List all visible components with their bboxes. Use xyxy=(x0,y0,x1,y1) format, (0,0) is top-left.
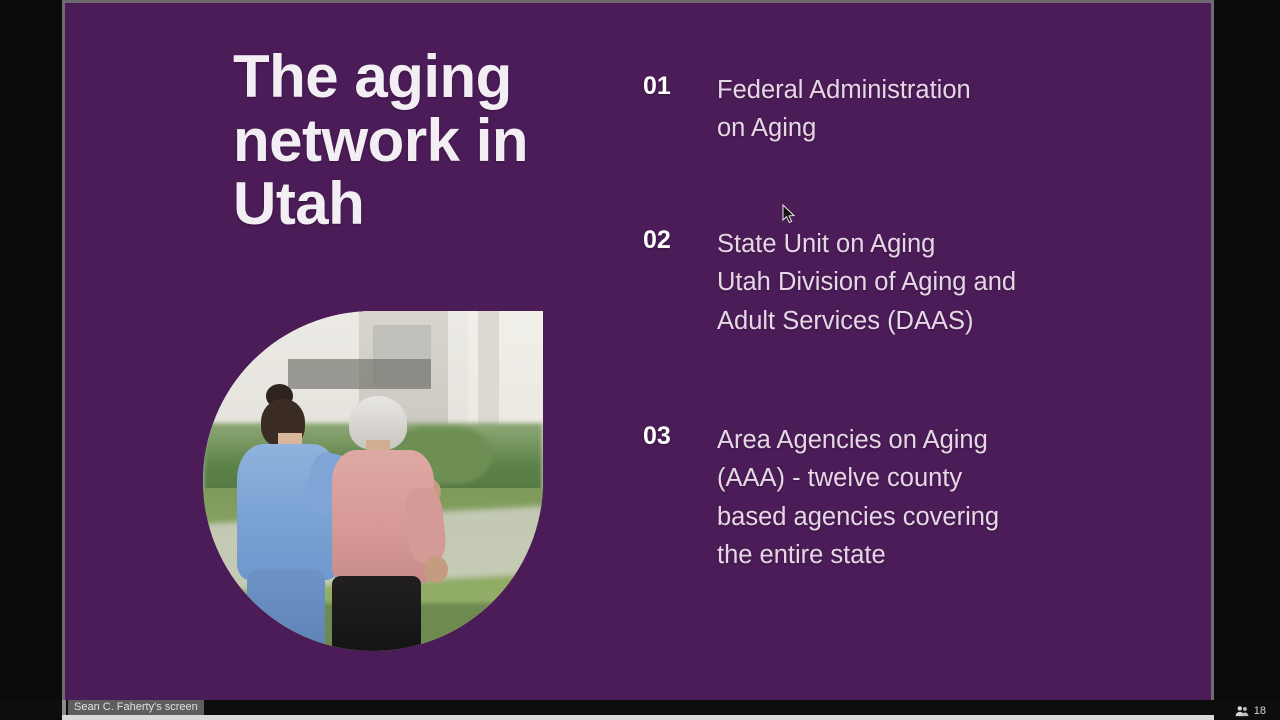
participant-count: 18 xyxy=(1254,705,1266,717)
list-item: 01 Federal Administration on Aging xyxy=(643,71,971,148)
share-strip-edge xyxy=(62,700,66,715)
list-item-number: 03 xyxy=(643,421,717,574)
shared-screen-view: The aging network in Utah xyxy=(0,0,1280,720)
list-item-number: 01 xyxy=(643,71,717,148)
list-item: 03 Area Agencies on Aging (AAA) - twelve… xyxy=(643,421,999,574)
elder-hand xyxy=(424,556,448,583)
participants-indicator[interactable]: 18 xyxy=(1235,705,1266,717)
share-progress-strip xyxy=(62,715,1214,720)
list-item: 02 State Unit on Aging Utah Division of … xyxy=(643,225,1016,340)
screen-share-label: Sean C. Faherty's screen xyxy=(68,700,204,715)
caregiver-pants xyxy=(247,569,325,651)
meeting-bottom-bar: Sean C. Faherty's screen 18 xyxy=(0,700,1280,720)
screen-share-frame: The aging network in Utah xyxy=(62,0,1214,700)
list-item-text: Area Agencies on Aging (AAA) - twelve co… xyxy=(717,421,999,574)
list-item-text: Federal Administration on Aging xyxy=(717,71,971,148)
presentation-slide: The aging network in Utah xyxy=(65,3,1211,700)
slide-photo xyxy=(203,311,543,651)
list-item-number: 02 xyxy=(643,225,717,340)
people-icon xyxy=(1235,705,1249,717)
slide-title: The aging network in Utah xyxy=(233,45,593,236)
photo-scene xyxy=(203,311,543,651)
mouse-pointer-icon xyxy=(782,204,796,224)
list-item-text: State Unit on Aging Utah Division of Agi… xyxy=(717,225,1016,340)
photo-eave xyxy=(288,359,431,390)
elder-pants xyxy=(332,576,420,651)
